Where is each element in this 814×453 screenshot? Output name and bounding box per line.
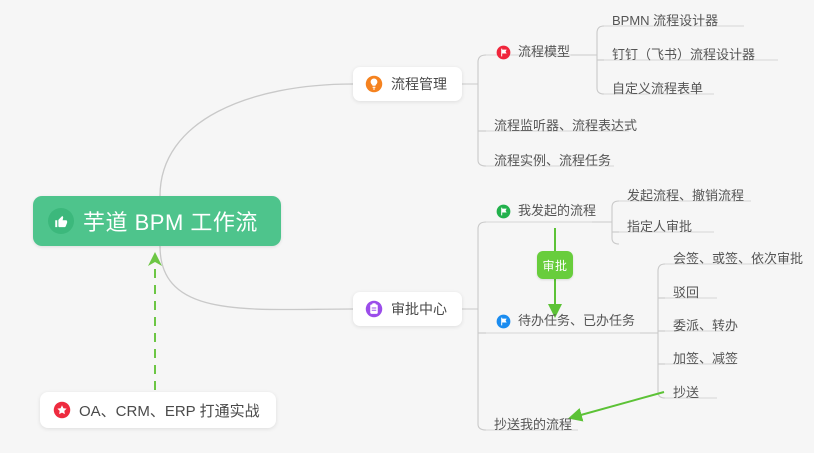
- topic-cc[interactable]: 抄送: [665, 385, 707, 405]
- topic-reject-label: 驳回: [673, 285, 699, 301]
- star-icon: [53, 401, 71, 419]
- thumbs-up-icon: [48, 208, 74, 234]
- clipboard-icon: [365, 300, 383, 318]
- topic-listener-expression[interactable]: 流程监听器、流程表达式: [486, 118, 645, 138]
- topic-bpmn-designer[interactable]: BPMN 流程设计器: [604, 13, 726, 33]
- topic-dingtalk-designer[interactable]: 钉钉（飞书）流程设计器: [604, 47, 763, 67]
- root-label: 芋道 BPM 工作流: [83, 205, 258, 237]
- topic-instance-task[interactable]: 流程实例、流程任务: [486, 153, 619, 173]
- flow-label-approval: 审批: [537, 251, 573, 279]
- topic-add-remove-sign-label: 加签、减签: [673, 351, 738, 367]
- topic-multi-sign[interactable]: 会签、或签、依次审批: [665, 251, 811, 271]
- topic-start-cancel-label: 发起流程、撤销流程: [627, 188, 744, 204]
- topic-add-remove-sign[interactable]: 加签、减签: [665, 351, 746, 371]
- branch-approval-center[interactable]: 审批中心: [353, 292, 462, 326]
- topic-listener-expression-label: 流程监听器、流程表达式: [494, 118, 637, 134]
- topic-process-model-label: 流程模型: [518, 44, 570, 60]
- topic-dingtalk-designer-label: 钉钉（飞书）流程设计器: [612, 47, 755, 63]
- topic-instance-task-label: 流程实例、流程任务: [494, 153, 611, 169]
- topic-cc-to-me-label: 抄送我的流程: [494, 417, 572, 433]
- topic-process-model[interactable]: 流程模型: [488, 44, 578, 64]
- topic-bpmn-designer-label: BPMN 流程设计器: [612, 13, 718, 29]
- flow-label-text: 审批: [542, 257, 567, 274]
- topic-delegate-transfer[interactable]: 委派、转办: [665, 318, 746, 338]
- flag-icon: [496, 204, 511, 219]
- root-node[interactable]: 芋道 BPM 工作流: [33, 196, 281, 246]
- topic-assignee-approval[interactable]: 指定人审批: [619, 219, 700, 239]
- topic-start-cancel[interactable]: 发起流程、撤销流程: [619, 188, 752, 208]
- flag-icon: [496, 45, 511, 60]
- topic-todo-done[interactable]: 待办任务、已办任务: [488, 313, 643, 333]
- branch-approval-center-label: 审批中心: [391, 299, 447, 319]
- note-card-oa-crm-erp[interactable]: OA、CRM、ERP 打通实战: [40, 392, 276, 428]
- branch-process-management-label: 流程管理: [391, 74, 447, 94]
- branch-process-management[interactable]: 流程管理: [353, 67, 462, 101]
- topic-multi-sign-label: 会签、或签、依次审批: [673, 251, 803, 267]
- flag-icon: [496, 314, 511, 329]
- topic-todo-done-label: 待办任务、已办任务: [518, 313, 635, 329]
- topic-assignee-approval-label: 指定人审批: [627, 219, 692, 235]
- lightbulb-pin-icon: [365, 75, 383, 93]
- topic-custom-form[interactable]: 自定义流程表单: [604, 81, 711, 101]
- topic-cc-label: 抄送: [673, 385, 699, 401]
- topic-custom-form-label: 自定义流程表单: [612, 81, 703, 97]
- topic-cc-to-me[interactable]: 抄送我的流程: [486, 417, 580, 437]
- topic-my-initiated-label: 我发起的流程: [518, 203, 596, 219]
- topic-my-initiated[interactable]: 我发起的流程: [488, 203, 604, 223]
- topic-delegate-transfer-label: 委派、转办: [673, 318, 738, 334]
- topic-reject[interactable]: 驳回: [665, 285, 707, 305]
- note-card-label: OA、CRM、ERP 打通实战: [79, 400, 260, 421]
- mindmap-canvas: 芋道 BPM 工作流 OA、CRM、ERP 打通实战 流程管理: [0, 0, 814, 453]
